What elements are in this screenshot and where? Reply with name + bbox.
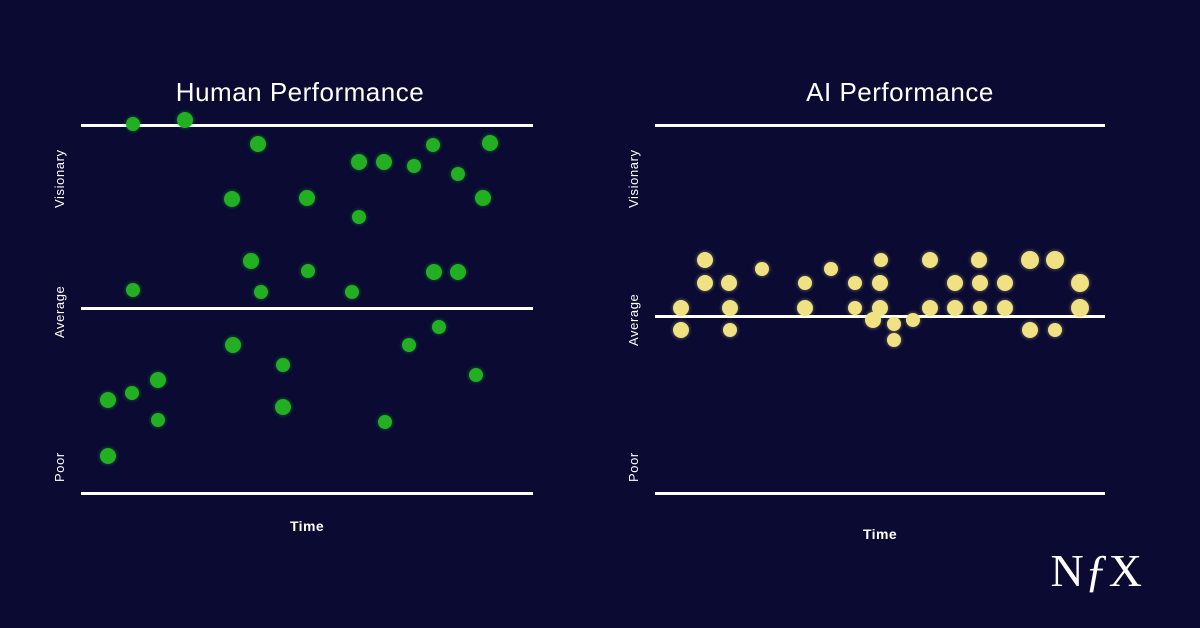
chart-panel-ai: AI Performance Visionary Average Poor Ti… (600, 0, 1200, 628)
gridline-poor-ai (655, 492, 1105, 495)
data-point (922, 252, 938, 268)
data-point (276, 358, 290, 372)
data-point (402, 338, 416, 352)
data-point (450, 264, 466, 280)
data-point (723, 323, 737, 337)
xlabel-time-ai: Time (655, 526, 1105, 542)
ylabel-average-ai: Average (626, 294, 641, 346)
data-point (177, 112, 193, 128)
data-point (797, 300, 813, 316)
ylabel-poor-human: Poor (52, 452, 67, 482)
data-point (100, 448, 116, 464)
ylabel-visionary-ai: Visionary (626, 149, 641, 208)
data-point (426, 138, 440, 152)
plot-area-human (81, 124, 533, 492)
data-point (848, 301, 862, 315)
data-point (451, 167, 465, 181)
data-point (126, 117, 140, 131)
data-point (1046, 251, 1064, 269)
chart-title-human: Human Performance (0, 76, 600, 108)
data-point (301, 264, 315, 278)
data-point (887, 333, 901, 347)
data-point (1022, 322, 1038, 338)
data-point (798, 276, 812, 290)
xlabel-time-human: Time (81, 518, 533, 534)
data-point (824, 262, 838, 276)
data-point (848, 276, 862, 290)
data-point (345, 285, 359, 299)
data-point (352, 210, 366, 224)
data-point (697, 275, 713, 291)
ylabel-poor-ai: Poor (626, 452, 641, 482)
data-point (100, 392, 116, 408)
data-point (125, 386, 139, 400)
chart-title-ai: AI Performance (600, 76, 1200, 108)
data-point (299, 190, 315, 206)
data-point (351, 154, 367, 170)
nfx-logo-x: X (1109, 545, 1142, 596)
data-point (1048, 323, 1062, 337)
data-point (250, 136, 266, 152)
chart-panel-human: Human Performance Visionary Average Poor… (0, 0, 600, 628)
data-point (673, 322, 689, 338)
data-point (475, 190, 491, 206)
data-point (874, 253, 888, 267)
data-point (275, 399, 291, 415)
data-point (972, 275, 988, 291)
data-point (971, 252, 987, 268)
ylabel-visionary-human: Visionary (52, 149, 67, 208)
data-point (973, 301, 987, 315)
poster-canvas: Human Performance Visionary Average Poor… (0, 0, 1200, 628)
data-point (432, 320, 446, 334)
data-point (1021, 251, 1039, 269)
data-point (1071, 299, 1089, 317)
data-point (872, 275, 888, 291)
data-point (378, 415, 392, 429)
nfx-logo: NƒX (1051, 548, 1142, 594)
data-point (697, 252, 713, 268)
nfx-logo-n: N (1051, 545, 1084, 596)
data-point (426, 264, 442, 280)
data-point (469, 368, 483, 382)
ylabel-average-human: Average (52, 286, 67, 338)
data-point (151, 413, 165, 427)
data-point (482, 135, 498, 151)
data-point (1071, 274, 1089, 292)
data-point (376, 154, 392, 170)
data-point (997, 275, 1013, 291)
data-point (407, 159, 421, 173)
data-point (865, 312, 881, 328)
data-point (224, 191, 240, 207)
data-point (887, 317, 901, 331)
data-point (922, 300, 938, 316)
data-point (254, 285, 268, 299)
data-point (150, 372, 166, 388)
data-point (906, 313, 920, 327)
plot-area-ai (655, 124, 1105, 492)
data-point (722, 300, 738, 316)
gridline-poor-human (81, 492, 533, 495)
data-point (755, 262, 769, 276)
data-point (243, 253, 259, 269)
data-point (947, 300, 963, 316)
data-point (225, 337, 241, 353)
data-point (673, 300, 689, 316)
data-point (721, 275, 737, 291)
data-point (126, 283, 140, 297)
data-point (947, 275, 963, 291)
nfx-logo-f: ƒ (1084, 545, 1109, 596)
data-point (997, 300, 1013, 316)
